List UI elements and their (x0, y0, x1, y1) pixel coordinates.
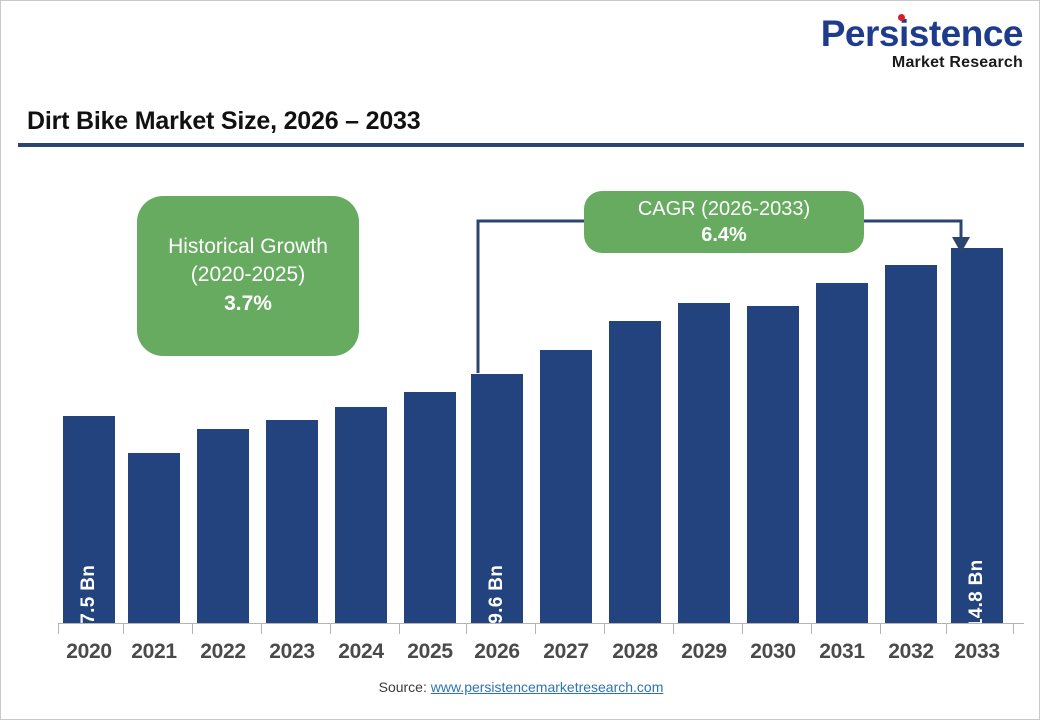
bar-2024 (335, 407, 387, 623)
x-axis-tick-2024 (330, 623, 331, 634)
x-axis-tick-2029 (673, 623, 674, 634)
x-axis-label-2024: 2024 (326, 640, 396, 664)
source-link[interactable]: www.persistencemarketresearch.com (431, 679, 664, 695)
bar-2033: US$ 14.8 Bn (951, 248, 1003, 623)
x-axis-label-2020: 2020 (54, 640, 124, 664)
historical-growth-line2: (2020-2025) (191, 261, 305, 289)
historical-growth-value: 3.7% (224, 289, 272, 319)
x-axis-tick-end (1013, 623, 1014, 634)
x-axis-line (58, 623, 1024, 624)
source-line: Source: www.persistencemarketresearch.co… (1, 679, 1040, 695)
bar-2028 (609, 321, 661, 623)
x-axis-label-2032: 2032 (876, 640, 946, 664)
bar-2030 (747, 306, 799, 623)
x-axis-tick-2030 (742, 623, 743, 634)
x-axis-label-2023: 2023 (257, 640, 327, 664)
x-axis-label-2028: 2028 (600, 640, 670, 664)
x-axis-label-2026: 2026 (462, 640, 532, 664)
bar-2021 (128, 453, 180, 623)
bar-2032 (885, 265, 937, 623)
x-axis-label-2031: 2031 (807, 640, 877, 664)
bar-2027 (540, 350, 592, 623)
x-axis-tick-2031 (811, 623, 812, 634)
historical-growth-line1: Historical Growth (168, 233, 328, 261)
x-axis-label-2029: 2029 (669, 640, 739, 664)
source-prefix: Source: (379, 679, 431, 695)
bar-2023 (266, 420, 318, 623)
bar-2022 (197, 429, 249, 623)
x-axis-tick-2025 (399, 623, 400, 634)
bar-chart-plot: US$ 7.5 Bn202020212022202320242025US$ 9.… (1, 1, 1040, 720)
x-axis-tick-2022 (192, 623, 193, 634)
cagr-label: CAGR (2026-2033) (638, 197, 810, 222)
x-axis-tick-2021 (123, 623, 124, 634)
historical-growth-callout: Historical Growth (2020-2025) 3.7% (137, 196, 359, 356)
x-axis-label-2022: 2022 (188, 640, 258, 664)
bar-2031 (816, 283, 868, 623)
x-axis-label-2030: 2030 (738, 640, 808, 664)
x-axis-tick-2033 (946, 623, 947, 634)
bar-2020: US$ 7.5 Bn (63, 416, 115, 623)
x-axis-label-2033: 2033 (942, 640, 1012, 664)
x-axis-label-2021: 2021 (119, 640, 189, 664)
bar-2025 (404, 392, 456, 623)
x-axis-label-2027: 2027 (531, 640, 601, 664)
x-axis-tick-2020 (58, 623, 59, 634)
bar-2029 (678, 303, 730, 623)
cagr-value: 6.4% (701, 222, 747, 248)
x-axis-tick-2027 (535, 623, 536, 634)
x-axis-tick-2032 (880, 623, 881, 634)
x-axis-tick-2026 (466, 623, 467, 634)
cagr-callout: CAGR (2026-2033) 6.4% (584, 191, 864, 253)
chart-infographic: Persistence Market Research Dirt Bike Ma… (0, 0, 1040, 720)
x-axis-tick-2028 (604, 623, 605, 634)
x-axis-tick-2023 (261, 623, 262, 634)
x-axis-label-2025: 2025 (395, 640, 465, 664)
bar-2026: US$ 9.6 Bn (471, 374, 523, 623)
